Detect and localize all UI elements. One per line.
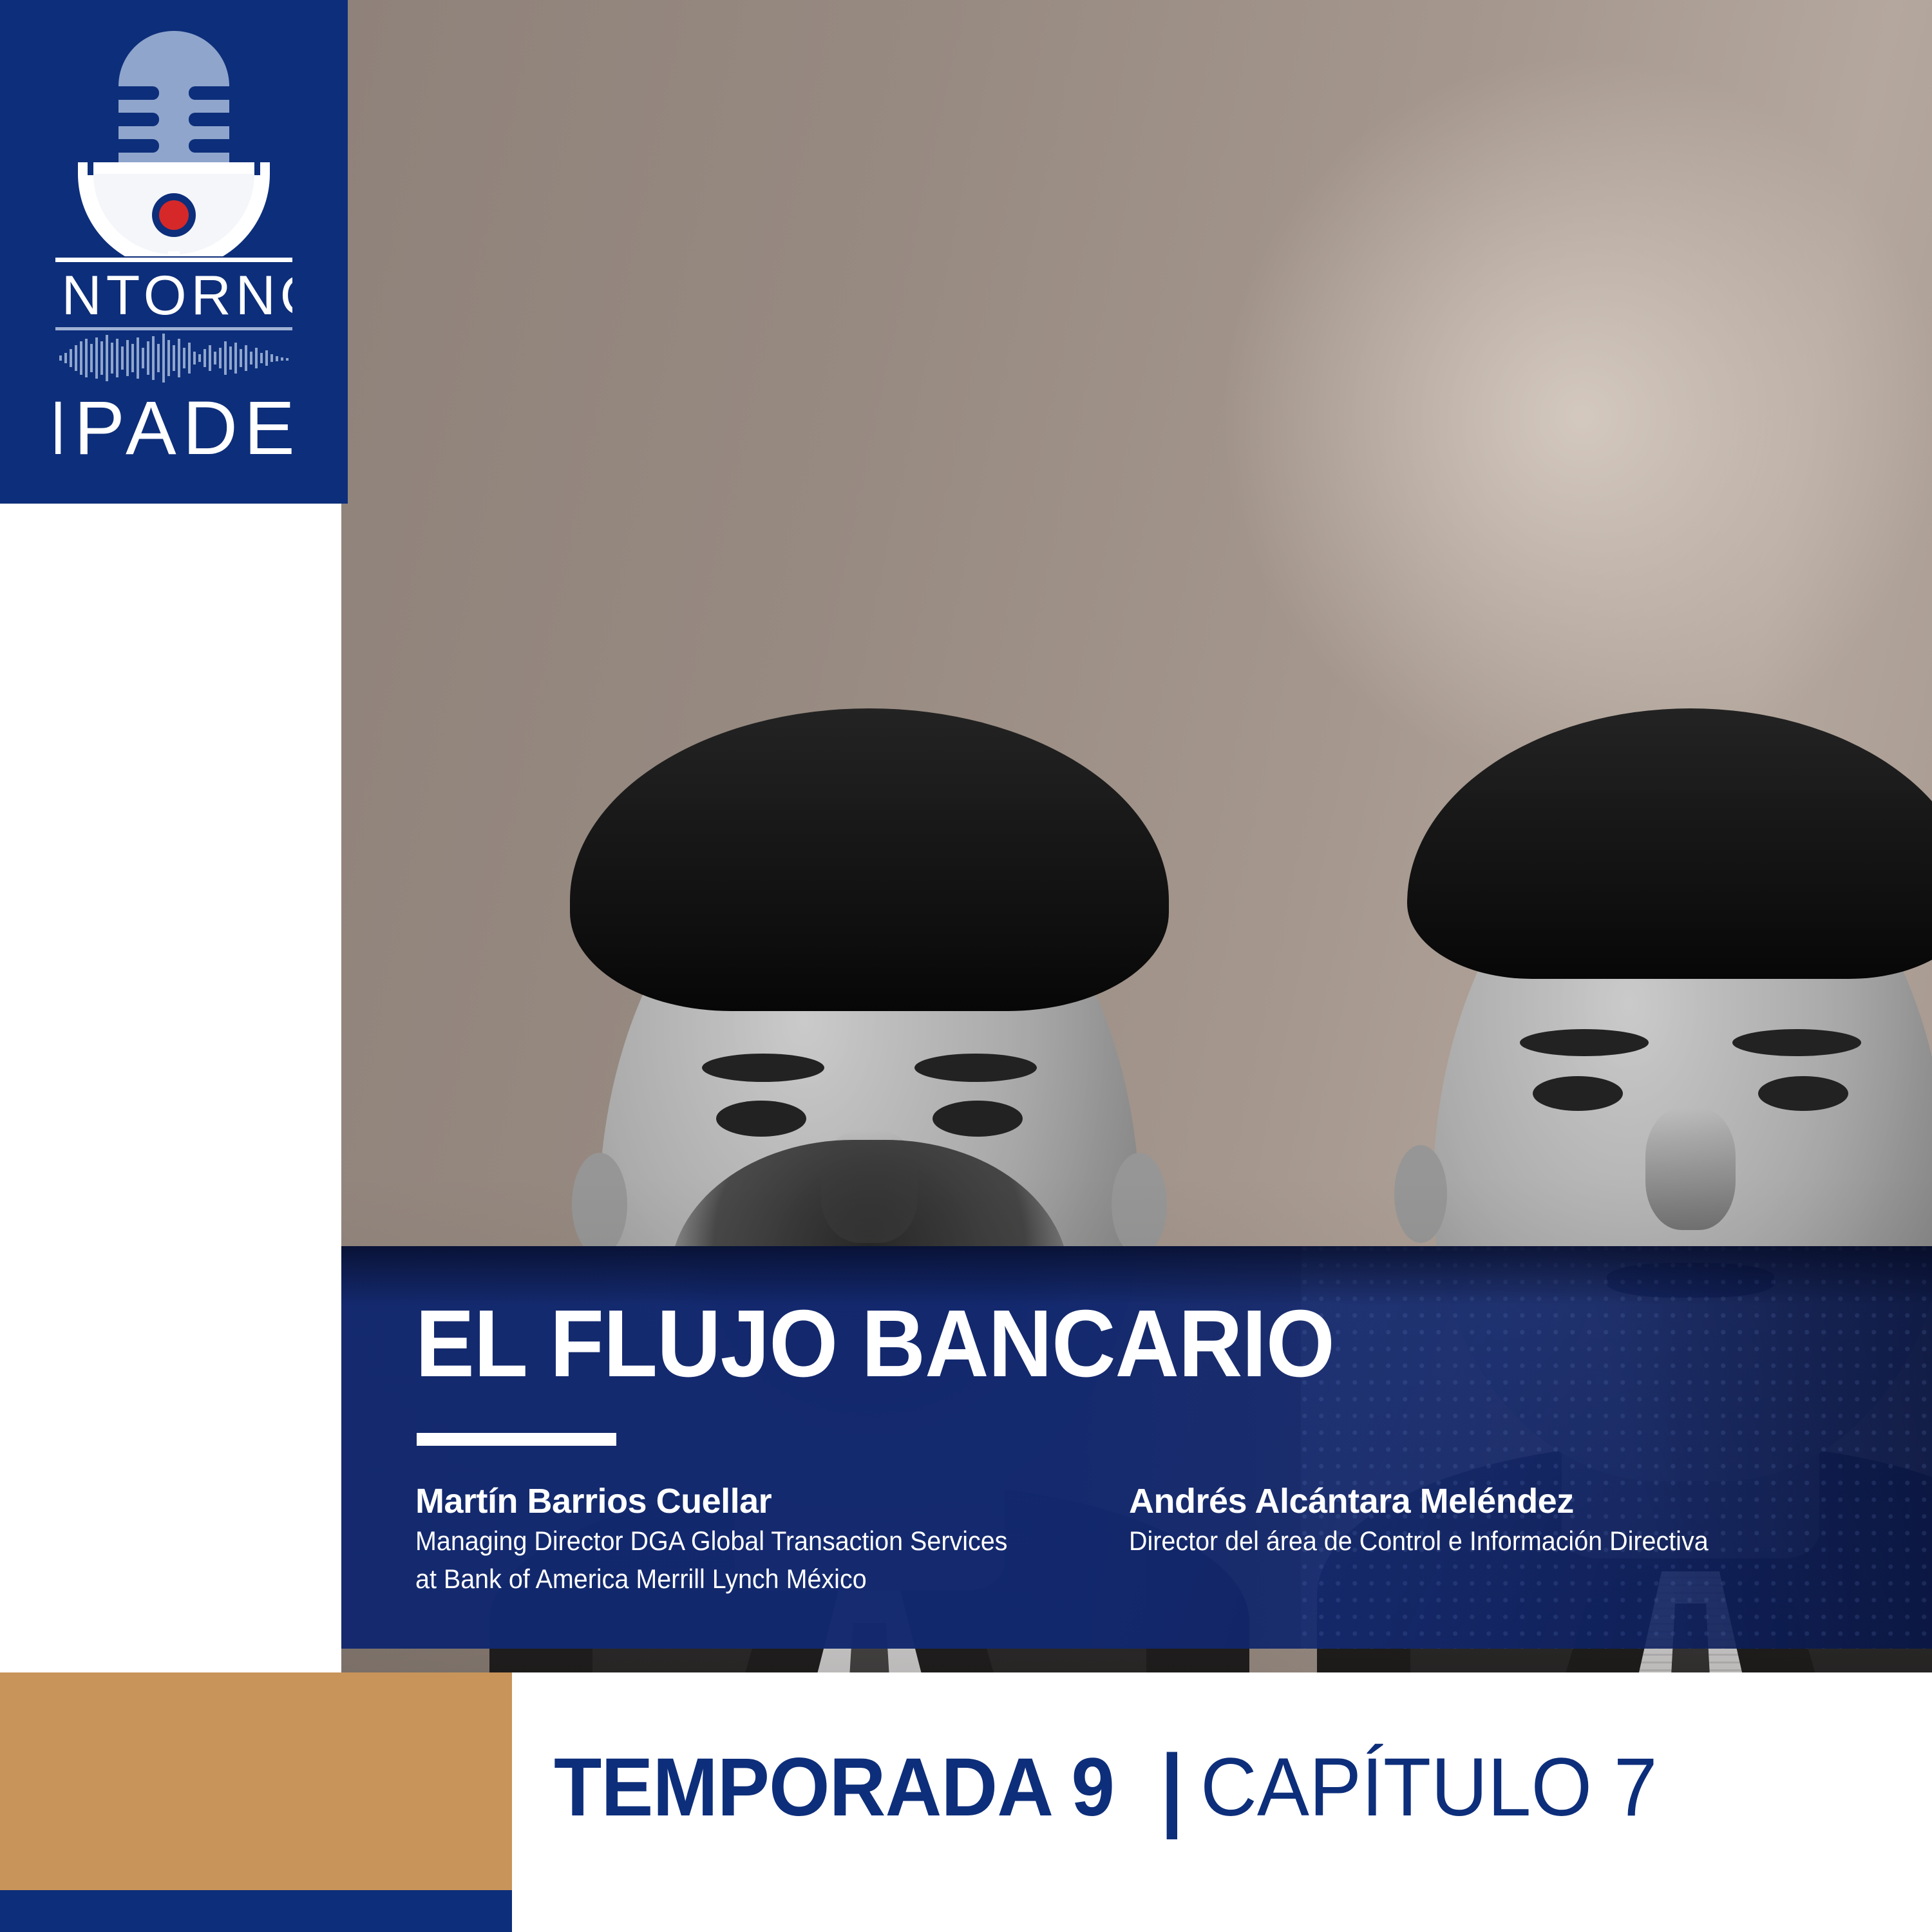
eyebrow-right [1732, 1029, 1861, 1056]
eye-left [716, 1101, 806, 1137]
speaker-name: Martín Barrios Cuellar [415, 1483, 1111, 1520]
speaker-entry: Andrés Alcántara Meléndez Director del á… [1129, 1483, 1824, 1596]
ear-left [572, 1153, 627, 1256]
nose [1645, 1108, 1736, 1230]
podcast-cover: ENTORNO [0, 0, 1932, 1932]
eyebrow-left [702, 1054, 824, 1082]
navy-bottom-strip [0, 1890, 512, 1932]
logo-entorno-text: ENTORNO [55, 265, 292, 327]
episode-title: EL FLUJO BANCARIO [415, 1296, 1826, 1392]
title-divider [417, 1433, 616, 1446]
entorno-ipade-wordmark: ENTORNO [55, 258, 292, 470]
logo-ipade-text: IPADE [55, 386, 292, 470]
eye-right [933, 1101, 1023, 1137]
speaker-role-line1: Managing Director DGA Global Transaction… [415, 1524, 1069, 1558]
speaker-list: Martín Barrios Cuellar Managing Director… [415, 1483, 1932, 1596]
chapter-label: CAPÍTULO 7 [1200, 1740, 1658, 1835]
hair [570, 708, 1169, 1011]
microphone-icon [68, 24, 280, 256]
ear-right [1112, 1153, 1167, 1256]
gold-accent-block [0, 1672, 512, 1890]
nose [821, 1130, 918, 1243]
hair [1407, 708, 1932, 979]
speaker-role-line1: Director del área de Control e Informaci… [1129, 1524, 1783, 1558]
season-chapter-line: TEMPORADA 9 | CAPÍTULO 7 [554, 1740, 1681, 1835]
speaker-entry: Martín Barrios Cuellar Managing Director… [415, 1483, 1111, 1596]
eyebrow-right [914, 1054, 1037, 1082]
eye-left [1533, 1076, 1623, 1111]
entorno-ipade-logo: ENTORNO [0, 0, 348, 504]
episode-banner: EL FLUJO BANCARIO Martín Barrios Cuellar… [341, 1246, 1932, 1649]
season-label: TEMPORADA 9 [554, 1740, 1114, 1835]
speaker-name: Andrés Alcántara Meléndez [1129, 1483, 1824, 1520]
audio-waveform-icon [59, 334, 289, 383]
ear-left [1394, 1145, 1447, 1243]
eye-right [1758, 1076, 1848, 1111]
season-separator: | [1160, 1734, 1184, 1841]
speaker-role-line2: at Bank of America Merrill Lynch México [415, 1562, 1069, 1596]
eyebrow-left [1520, 1029, 1649, 1056]
